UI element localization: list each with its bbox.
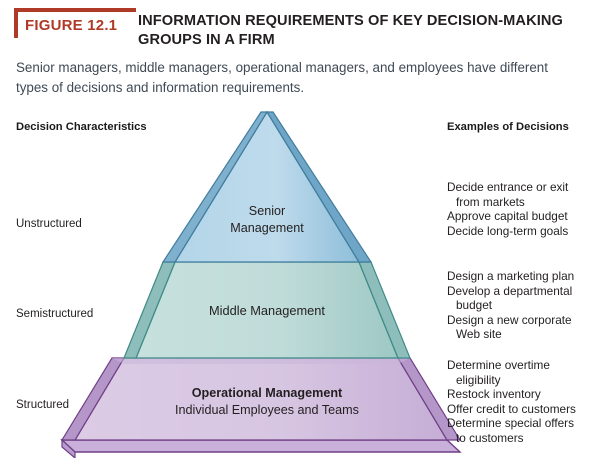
example-line: Approve capital budget	[447, 209, 604, 224]
example-line: Determine special offers	[447, 416, 604, 431]
pyramid-tier-operational-management	[62, 358, 460, 440]
example-line: Design a new corporate	[447, 313, 604, 328]
tier-title-senior-management: Senior	[187, 203, 347, 220]
examples-group-unstructured: Decide entrance or exitfrom marketsAppro…	[447, 180, 604, 238]
figure-subtitle: Senior managers, middle managers, operat…	[16, 58, 556, 98]
examples-group-structured: Determine overtimeeligibilityRestock inv…	[447, 358, 604, 446]
decision-characteristics-heading: Decision Characteristics	[16, 121, 147, 133]
pyramid-tier-middle-management	[124, 262, 410, 358]
example-line: from markets	[447, 195, 604, 210]
example-line: budget	[447, 298, 604, 313]
examples-of-decisions-heading: Examples of Decisions	[447, 121, 569, 133]
example-line: Restock inventory	[447, 387, 604, 402]
tier-label-middle-management: Middle Management	[167, 302, 367, 319]
figure-tag-bar: FIGURE 12.1	[14, 8, 136, 38]
decision-level-label-structured: Structured	[16, 399, 69, 411]
pyramid-base-plate	[62, 440, 460, 458]
example-line: Develop a departmental	[447, 284, 604, 299]
tier-subtitle-senior-management: Management	[187, 220, 347, 237]
example-line: Determine overtime	[447, 358, 604, 373]
example-line: Web site	[447, 327, 604, 342]
decision-level-label-unstructured: Unstructured	[16, 218, 82, 230]
tier-subtitle-operational-management: Individual Employees and Teams	[117, 402, 417, 419]
figure-header: FIGURE 12.1 INFORMATION REQUIREMENTS OF …	[0, 0, 604, 108]
figure-title: INFORMATION REQUIREMENTS OF KEY DECISION…	[138, 12, 590, 50]
example-line: Decide entrance or exit	[447, 180, 604, 195]
example-line: to customers	[447, 431, 604, 446]
example-line: Offer credit to customers	[447, 402, 604, 417]
tier-label-operational-management: Operational Management Individual Employ…	[117, 385, 417, 419]
example-line: eligibility	[447, 373, 604, 388]
example-line: Design a marketing plan	[447, 269, 604, 284]
tier-title-operational-management: Operational Management	[117, 385, 417, 402]
examples-group-semistructured: Design a marketing planDevelop a departm…	[447, 269, 604, 342]
tier-title-middle-management: Middle Management	[167, 302, 367, 319]
tier-label-senior-management: Senior Management	[187, 203, 347, 237]
figure-number-label: FIGURE 12.1	[25, 17, 128, 35]
pyramid-tier-senior-management	[163, 112, 371, 262]
example-line: Decide long-term goals	[447, 224, 604, 239]
decision-level-label-semistructured: Semistructured	[16, 308, 93, 320]
